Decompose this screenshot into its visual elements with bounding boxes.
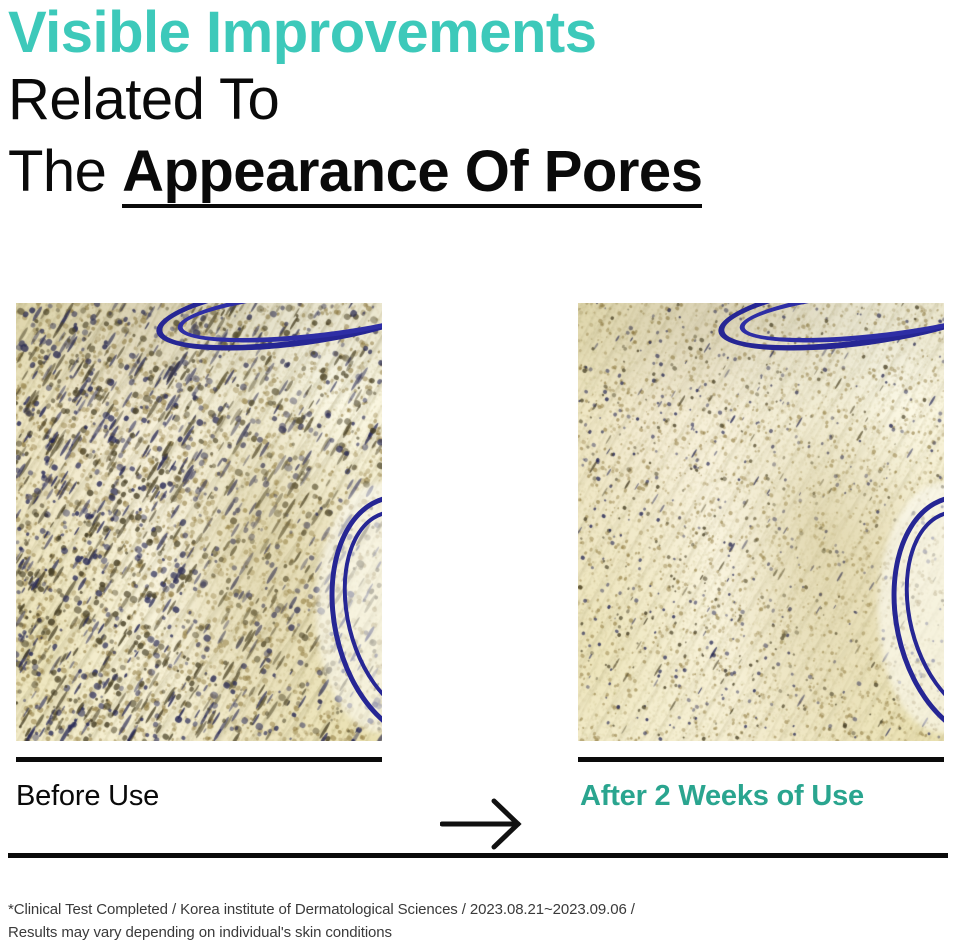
headline-line-2: Related To — [8, 64, 948, 136]
footer-divider — [8, 853, 948, 858]
after-label-rule — [578, 757, 944, 762]
footnote-line-1: *Clinical Test Completed / Korea institu… — [8, 898, 908, 921]
right-arrow-icon — [440, 798, 526, 850]
skin-micrograph-after — [578, 303, 944, 741]
after-image-panel — [578, 303, 944, 741]
headline-line-3: The Appearance Of Pores — [8, 136, 948, 208]
headline-line-3-emphasis: Appearance Of Pores — [122, 143, 702, 208]
before-label-rule — [16, 757, 382, 762]
before-image-panel — [16, 303, 382, 741]
headline-line-3-prefix: The — [8, 139, 122, 204]
headline-line-1: Visible Improvements — [8, 0, 948, 64]
page-title: Visible Improvements Related To The Appe… — [8, 0, 948, 208]
footnote: *Clinical Test Completed / Korea institu… — [8, 898, 908, 944]
before-label: Before Use — [16, 778, 159, 814]
after-label: After 2 Weeks of Use — [580, 778, 864, 814]
before-after-comparison — [0, 303, 956, 743]
skin-micrograph-before — [16, 303, 382, 741]
